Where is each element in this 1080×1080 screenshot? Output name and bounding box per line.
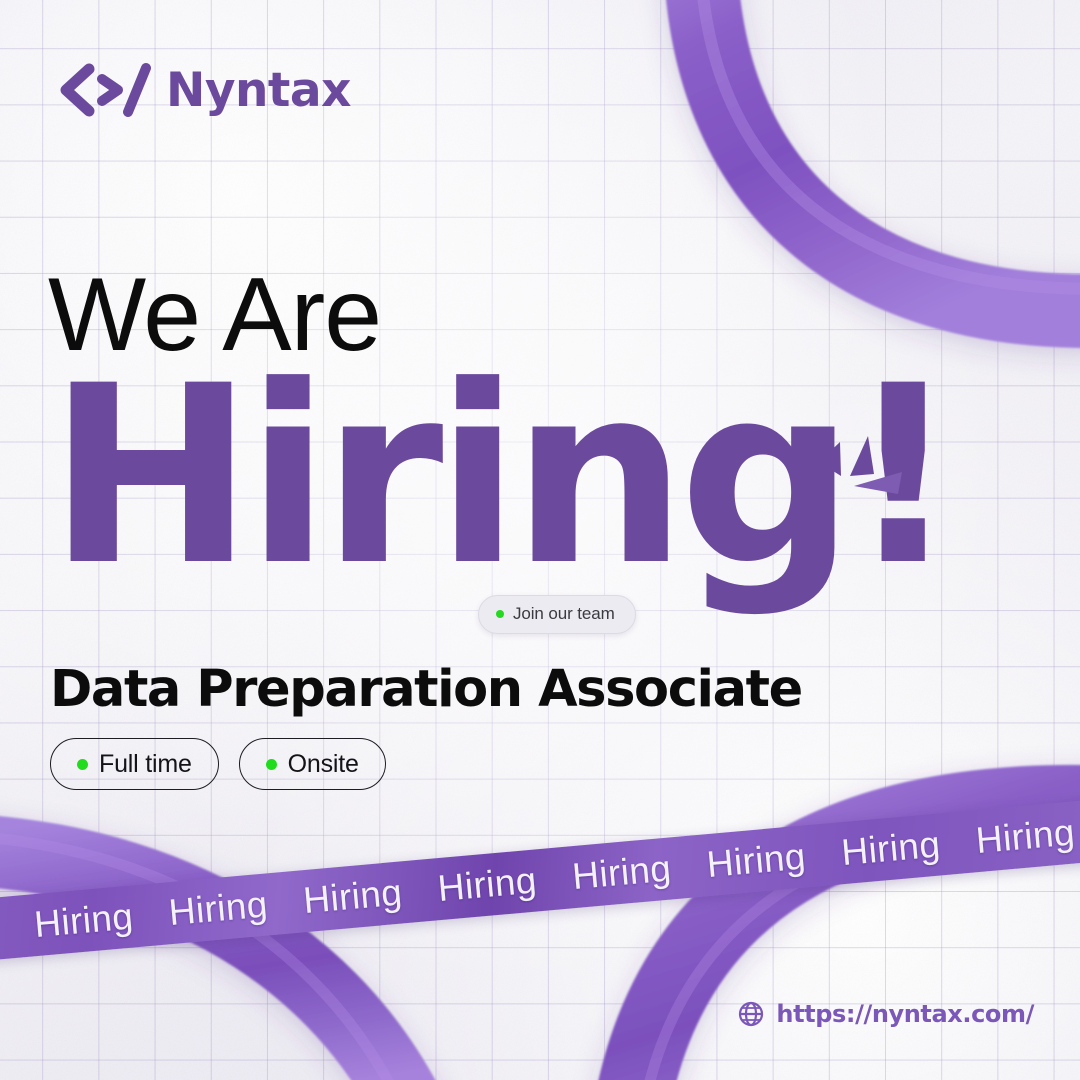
status-dot-icon: [496, 610, 504, 618]
hiring-ribbon-word: Hiring: [167, 883, 269, 934]
join-team-badge[interactable]: Join our team: [478, 595, 636, 634]
globe-icon: [738, 1001, 764, 1027]
status-dot-icon: [266, 759, 277, 770]
headline-block: We Are Hiring! Join our team: [48, 268, 948, 628]
hiring-ribbon-word: Hiring: [840, 823, 942, 874]
hiring-poster: Nyntax We Are Hiring! Join our team Data…: [0, 0, 1080, 1080]
job-tag-onsite[interactable]: Onsite: [239, 738, 386, 790]
job-tags: Full time Onsite: [50, 738, 386, 790]
brand-name: Nyntax: [166, 67, 351, 114]
code-slash-icon: [56, 62, 152, 118]
headline-line-2-row: Hiring! Join our team: [48, 358, 948, 628]
hiring-ribbon-word: Hiring: [302, 871, 404, 922]
join-team-label: Join our team: [513, 604, 615, 624]
status-dot-icon: [77, 759, 88, 770]
job-tag-label: Full time: [99, 750, 192, 779]
website-link[interactable]: https://nyntax.com/: [738, 1000, 1034, 1028]
hiring-ribbon-word: Hiring: [33, 895, 135, 946]
job-tag-full-time[interactable]: Full time: [50, 738, 219, 790]
website-url: https://nyntax.com/: [776, 1000, 1034, 1028]
brand-logo[interactable]: Nyntax: [56, 62, 351, 118]
hiring-ribbon-word: Hiring: [436, 859, 538, 910]
sparkle-burst-icon: [810, 432, 906, 506]
job-title: Data Preparation Associate: [50, 664, 802, 715]
hiring-ribbon-word: Hiring: [705, 835, 807, 886]
hiring-ribbon-word: Hiring: [974, 811, 1076, 862]
hiring-ribbon-word: Hiring: [571, 847, 673, 898]
job-tag-label: Onsite: [288, 750, 359, 779]
